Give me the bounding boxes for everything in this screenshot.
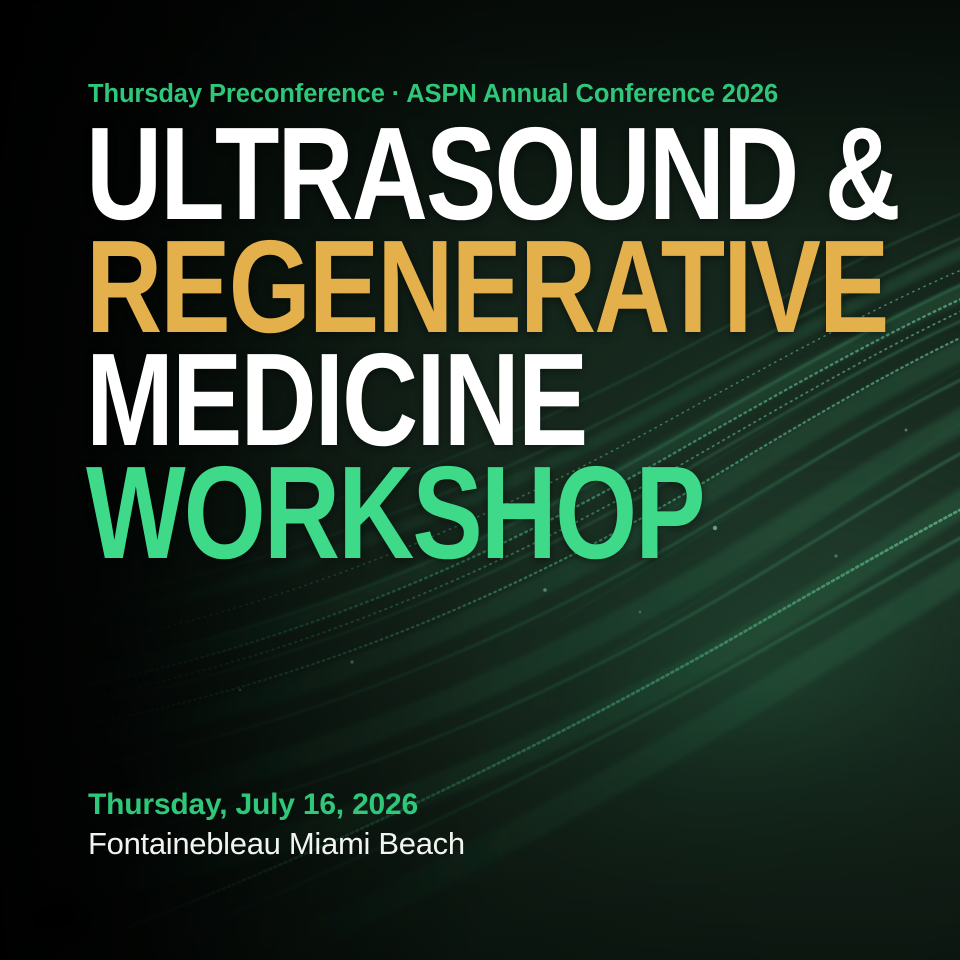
event-date: Thursday, July 16, 2026 <box>88 786 465 824</box>
event-details: Thursday, July 16, 2026 Fontainebleau Mi… <box>88 786 465 864</box>
event-venue: Fontainebleau Miami Beach <box>88 824 465 864</box>
poster-content: Thursday Preconference · ASPN Annual Con… <box>0 0 960 960</box>
conference-poster: Thursday Preconference · ASPN Annual Con… <box>0 0 960 960</box>
page-title: ULTRASOUND & REGENERATIVE MEDICINE WORKS… <box>86 118 906 569</box>
headline-line-workshop: WORKSHOP <box>86 457 742 570</box>
